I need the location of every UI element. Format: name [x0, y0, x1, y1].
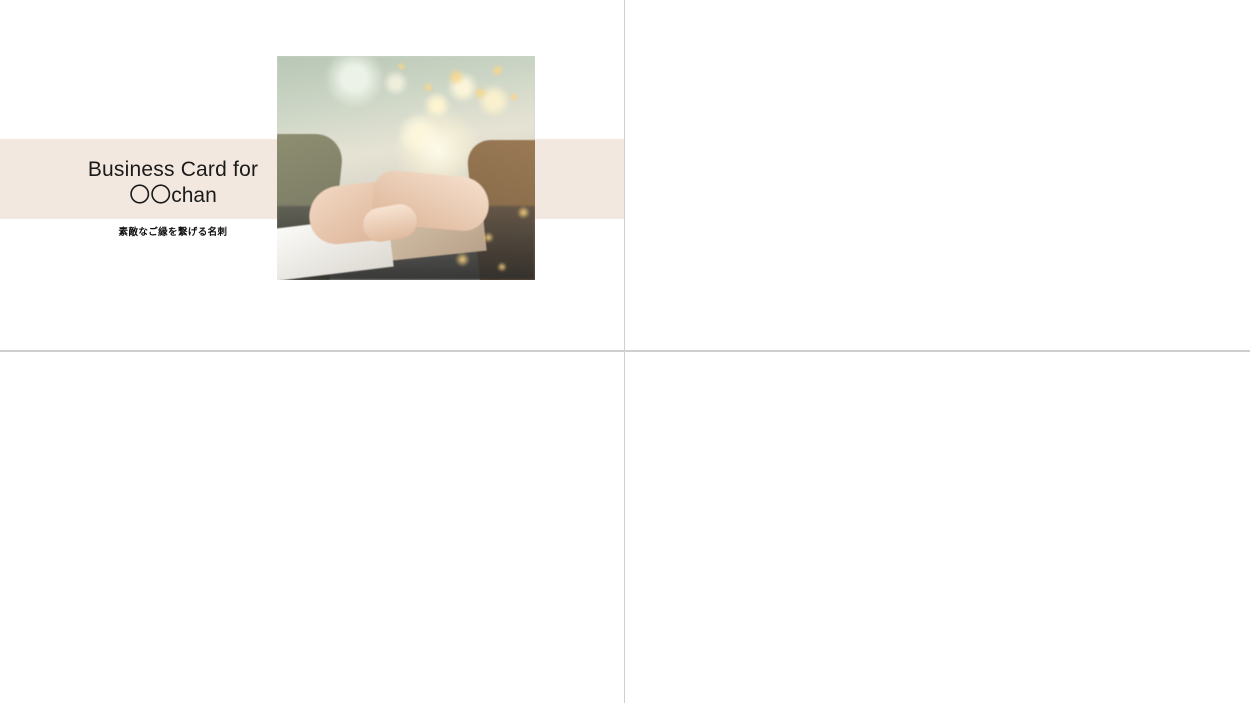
slide1-title-line1: Business Card for: [88, 158, 258, 181]
slide1-title: Business Card for 〇〇chan: [58, 157, 288, 208]
slide1-title-line2: 〇〇chan: [58, 183, 288, 209]
slide-3-mindmap[interactable]: Images 私が持っている 〇〇ちゃんのイメージを 膨らませてみました: [0, 351, 625, 703]
slide-1-title[interactable]: Business Card for 〇〇chan 素敵なご縁を繋げる名刺: [0, 0, 625, 351]
slide-deck-grid: Business Card for 〇〇chan 素敵なご縁を繋げる名刺 名刺制…: [0, 0, 1250, 703]
slide1-subtitle: 素敵なご縁を繋げる名刺: [58, 224, 288, 238]
slide-4-image-options[interactable]: What is she like? 身軽・心軽く生きる … シンプル 色んなこと…: [625, 351, 1250, 703]
handshake-photo: [277, 56, 535, 280]
slide-2-process[interactable]: 名刺制作の流れ 〇〇ちゃんってどんな人？ 〇〇ちゃんの良さを伝えるイメージは？ …: [625, 0, 1250, 351]
